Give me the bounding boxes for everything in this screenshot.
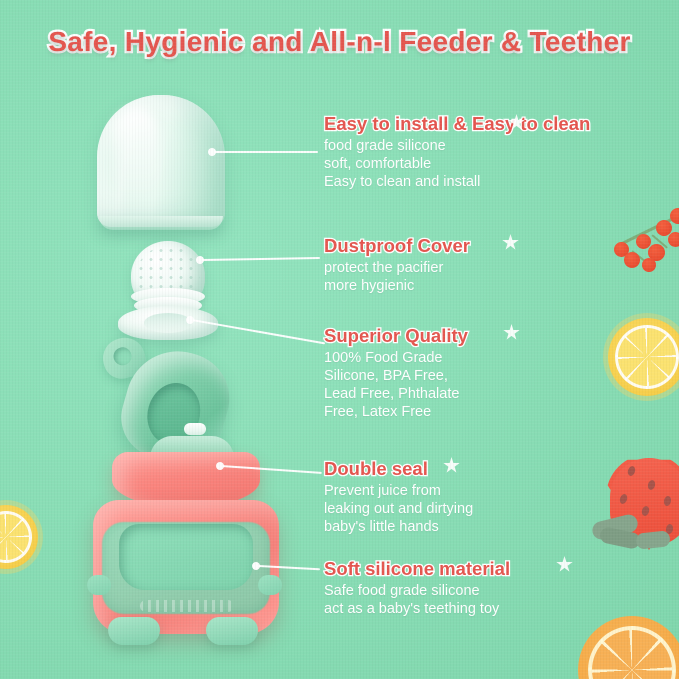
page-title: Safe, Hygienic and All-n-l Feeder & Teet…	[0, 26, 679, 58]
feature-body: food grade silicone soft, comfortable Ea…	[324, 138, 590, 192]
star-sparkle-icon	[502, 234, 519, 251]
feature-body: Safe food grade silicone act as a baby's…	[324, 583, 510, 619]
feature-block-easy-to-install: Easy to install & Easy to clean food gra…	[324, 114, 590, 192]
feature-body: 100% Food Grade Silicone, BPA Free, Lead…	[324, 350, 468, 422]
callout-line-2	[202, 257, 320, 261]
berry-cluster-decoration	[612, 206, 679, 276]
lemon-slice-right-decoration	[608, 318, 679, 396]
feature-heading: Superior Quality	[324, 326, 468, 347]
feature-block-dustproof-cover: Dustproof Cover protect the pacifier mor…	[324, 236, 470, 296]
orange-slice-decoration	[578, 616, 679, 679]
star-sparkle-icon	[503, 324, 520, 341]
strawberry-decoration	[592, 436, 679, 554]
callout-line-1	[214, 151, 318, 153]
feature-heading: Soft silicone material	[324, 559, 510, 580]
feature-body: protect the pacifier more hygienic	[324, 260, 470, 296]
product-infographic-poster: Safe, Hygienic and All-n-l Feeder & Teet…	[0, 0, 679, 679]
feature-block-soft-silicone-material: Soft silicone material Safe food grade s…	[324, 559, 510, 619]
feature-body: Prevent juice from leaking out and dirty…	[324, 483, 473, 537]
feature-heading: Dustproof Cover	[324, 236, 470, 257]
feature-block-superior-quality: Superior Quality 100% Food Grade Silicon…	[324, 326, 468, 422]
feature-heading: Easy to install & Easy to clean	[324, 114, 590, 135]
star-sparkle-icon	[556, 556, 573, 573]
feature-block-double-seal: Double seal Prevent juice from leaking o…	[324, 459, 473, 537]
lemon-slice-left-decoration	[0, 505, 38, 569]
